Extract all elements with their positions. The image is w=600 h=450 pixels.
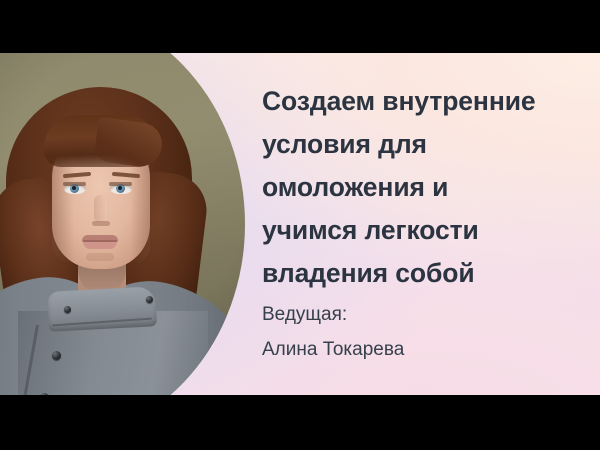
title-line-1: Создаем внутренние xyxy=(262,80,588,123)
thumbnail-content: Создаем внутренние условия для омоложени… xyxy=(0,53,600,395)
eyelid-left xyxy=(63,182,86,186)
pupil-left xyxy=(72,186,76,190)
chin-shadow xyxy=(86,253,114,261)
pupil-right xyxy=(118,186,122,190)
presenter-name: Алина Токарева xyxy=(262,332,588,367)
title-line-3: омоложения и xyxy=(262,166,588,209)
jacket-button-collar xyxy=(64,306,71,313)
letterbox-bar-top xyxy=(0,0,600,53)
nostrils xyxy=(92,221,110,226)
video-thumbnail: Создаем внутренние условия для омоложени… xyxy=(0,0,600,450)
thumbnail-title: Создаем внутренние условия для омоложени… xyxy=(262,80,588,295)
photo-backdrop xyxy=(0,53,250,395)
letterbox-bar-bottom xyxy=(0,395,600,450)
jacket-button-shoulder xyxy=(146,296,153,303)
title-line-4: учимся легкости xyxy=(262,209,588,252)
presenter-photo xyxy=(0,53,250,395)
title-line-2: условия для xyxy=(262,123,588,166)
presenter-label: Ведущая: xyxy=(262,297,588,332)
nose xyxy=(94,195,107,223)
mouth-line xyxy=(83,240,117,242)
jacket-button-1 xyxy=(52,351,61,360)
eyelid-right xyxy=(109,182,132,186)
presenter-credit: Ведущая: Алина Токарева xyxy=(262,297,588,367)
text-block: Создаем внутренние условия для омоложени… xyxy=(262,53,588,395)
title-line-5: владения собой xyxy=(262,252,588,295)
